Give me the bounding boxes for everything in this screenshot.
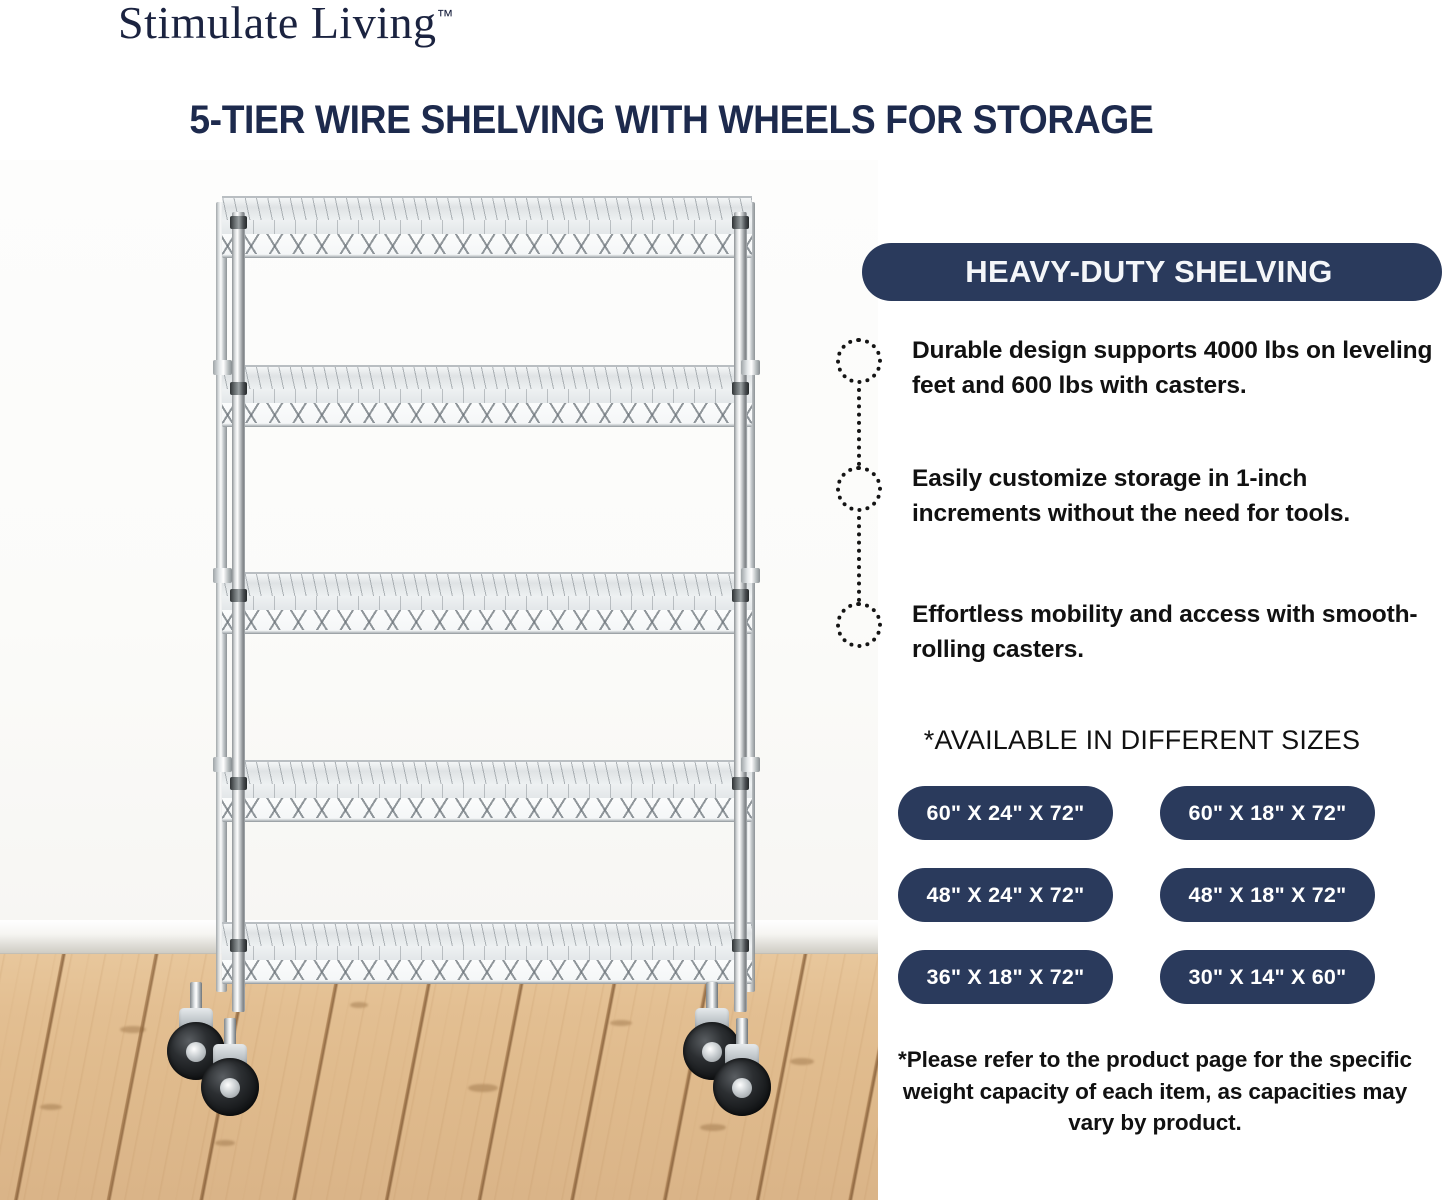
post-collar bbox=[230, 589, 247, 602]
heavy-duty-badge: HEAVY-DUTY SHELVING bbox=[862, 243, 1442, 301]
shelf-front-rail bbox=[222, 980, 752, 984]
shelf-truss bbox=[222, 610, 752, 632]
badge-label: HEAVY-DUTY SHELVING bbox=[965, 254, 1338, 290]
trademark-symbol: ™ bbox=[436, 7, 453, 26]
capacity-disclaimer: *Please refer to the product page for th… bbox=[890, 1044, 1420, 1139]
feature-item-1: Durable design supports 4000 lbs on leve… bbox=[836, 330, 1436, 458]
shelf-truss bbox=[222, 403, 752, 425]
post-collar bbox=[732, 777, 749, 790]
size-option-pill[interactable]: 60" X 18" X 72" bbox=[1160, 786, 1375, 840]
caster-hub bbox=[732, 1078, 752, 1098]
shelf-tier-3 bbox=[222, 572, 752, 634]
shelf-tier-2 bbox=[222, 760, 752, 822]
shelf-deck bbox=[222, 196, 752, 222]
sizes-heading: *AVAILABLE IN DIFFERENT SIZES bbox=[862, 725, 1422, 756]
feature-text: Easily customize storage in 1-inch incre… bbox=[912, 458, 1436, 532]
bullet-circle-icon bbox=[836, 338, 882, 384]
bullet-circle-icon bbox=[836, 466, 882, 512]
post-collar bbox=[213, 757, 232, 772]
shelf-front-rail bbox=[222, 818, 752, 822]
post-collar bbox=[732, 382, 749, 395]
post-collar bbox=[732, 939, 749, 952]
shelf-tier-5 bbox=[222, 196, 752, 258]
post-collar bbox=[732, 216, 749, 229]
post-collar bbox=[741, 757, 760, 772]
brand-name: Stimulate Living bbox=[118, 0, 436, 48]
feature-text: Effortless mobility and access with smoo… bbox=[912, 594, 1436, 668]
shelf-post-front-left bbox=[232, 212, 245, 1012]
size-option-pill[interactable]: 48" X 18" X 72" bbox=[1160, 868, 1375, 922]
feature-item-3: Effortless mobility and access with smoo… bbox=[836, 594, 1436, 694]
shelf-truss bbox=[222, 960, 752, 982]
shelf-deck bbox=[222, 572, 752, 598]
shelf-truss bbox=[222, 798, 752, 820]
post-collar bbox=[732, 589, 749, 602]
shelf-truss bbox=[222, 234, 752, 256]
feature-text: Durable design supports 4000 lbs on leve… bbox=[912, 330, 1436, 404]
page-title: 5-TIER WIRE SHELVING WITH WHEELS FOR STO… bbox=[51, 98, 1395, 143]
shelf-front-rail bbox=[222, 254, 752, 258]
product-photo bbox=[0, 160, 878, 1200]
post-collar bbox=[213, 360, 232, 375]
size-option-pill[interactable]: 60" X 24" X 72" bbox=[898, 786, 1113, 840]
shelf-deck bbox=[222, 365, 752, 391]
size-option-pill[interactable]: 30" X 14" X 60" bbox=[1160, 950, 1375, 1004]
wire-shelving-unit bbox=[0, 160, 878, 1200]
shelf-front-rail bbox=[222, 423, 752, 427]
shelf-deck bbox=[222, 760, 752, 786]
shelf-deck bbox=[222, 922, 752, 948]
infographic-page: Stimulate Living™ 5-TIER WIRE SHELVING W… bbox=[0, 0, 1445, 1200]
feature-list: Durable design supports 4000 lbs on leve… bbox=[836, 330, 1436, 694]
post-collar bbox=[741, 568, 760, 583]
feature-item-2: Easily customize storage in 1-inch incre… bbox=[836, 458, 1436, 594]
brand-logo: Stimulate Living™ bbox=[118, 0, 453, 49]
size-option-pill[interactable]: 36" X 18" X 72" bbox=[898, 950, 1113, 1004]
shelf-tier-1 bbox=[222, 922, 752, 984]
post-collar bbox=[230, 382, 247, 395]
shelf-post-front-right bbox=[734, 212, 747, 1012]
shelf-tier-4 bbox=[222, 365, 752, 427]
size-options-grid: 60" X 24" X 72" 60" X 18" X 72" 48" X 24… bbox=[898, 786, 1443, 1004]
bullet-circle-icon bbox=[836, 602, 882, 648]
post-collar bbox=[230, 216, 247, 229]
caster-hub bbox=[702, 1042, 722, 1062]
post-collar bbox=[230, 777, 247, 790]
shelf-front-rail bbox=[222, 630, 752, 634]
bullet-connector-icon bbox=[857, 388, 861, 466]
bullet-connector-icon bbox=[857, 516, 861, 602]
caster-hub bbox=[220, 1078, 240, 1098]
size-option-pill[interactable]: 48" X 24" X 72" bbox=[898, 868, 1113, 922]
post-collar bbox=[213, 568, 232, 583]
post-collar bbox=[230, 939, 247, 952]
post-collar bbox=[741, 360, 760, 375]
caster-hub bbox=[186, 1042, 206, 1062]
